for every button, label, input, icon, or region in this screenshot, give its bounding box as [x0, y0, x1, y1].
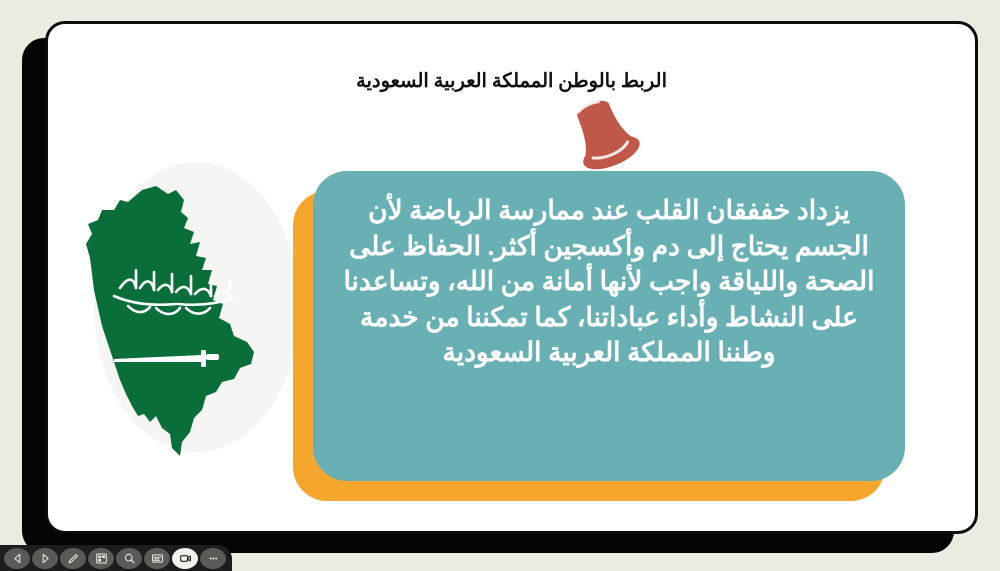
callout-group: يزداد خففقان القلب عند ممارسة الرياضة لأ…	[293, 169, 913, 509]
pen-tool-button[interactable]	[60, 548, 86, 569]
slide-stage: الربط بالوطن المملكة العربية السعودية	[0, 0, 1000, 571]
slide-layout-button[interactable]	[88, 548, 114, 569]
presentation-toolbar[interactable]	[0, 545, 232, 571]
zoom-button[interactable]	[116, 548, 142, 569]
saudi-arabia-map-group	[66, 152, 326, 492]
slide-canvas: الربط بالوطن المملكة العربية السعودية	[45, 21, 978, 534]
subtitles-button[interactable]	[144, 548, 170, 569]
callout-body-text: يزداد خففقان القلب عند ممارسة الرياضة لأ…	[339, 193, 879, 371]
callout-box: يزداد خففقان القلب عند ممارسة الرياضة لأ…	[313, 171, 905, 481]
more-options-button[interactable]	[200, 548, 226, 569]
saudi-arabia-map-icon	[84, 166, 299, 476]
next-slide-button[interactable]	[32, 548, 58, 569]
previous-slide-button[interactable]	[4, 548, 30, 569]
camera-button[interactable]	[172, 548, 198, 569]
page-title: الربط بالوطن المملكة العربية السعودية	[48, 69, 975, 93]
